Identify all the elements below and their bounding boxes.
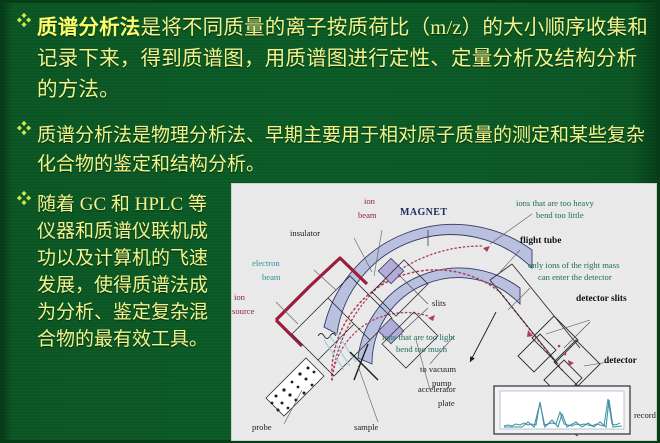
probe-assembly — [266, 358, 324, 416]
label-vacuum-pump-line2: pump — [432, 378, 452, 388]
label-too-light-line2: bend too much — [396, 344, 447, 354]
four-diamond-bullet-icon — [17, 121, 31, 135]
label-right-mass-line2: can enter the detector — [538, 272, 612, 282]
label-probe: probe — [252, 422, 272, 432]
label-flight-tube: flight tube — [520, 236, 561, 246]
vacuum-pump-arrow — [470, 312, 496, 362]
bullet-2-text: 质谱分析法是物理分析法、早期主要用于相对原子质量的测定和某些复杂化合物的鉴定和结… — [37, 121, 649, 179]
label-right-mass-line1: only ions of the right mass — [528, 260, 619, 270]
four-diamond-bullet-icon — [17, 191, 31, 205]
label-sample: sample — [354, 422, 378, 432]
label-vacuum-pump-line1: to vacuum — [420, 364, 456, 374]
label-electron-beam-line1: electron — [252, 258, 280, 268]
detector-slit-leaders — [546, 320, 608, 366]
bullet-1-text: 质谱分析法是将不同质量的离子按质荷比（m/z）的大小顺序收集和记录下来，得到质谱… — [37, 13, 649, 106]
bullet-item-1: 质谱分析法是将不同质量的离子按质荷比（m/z）的大小顺序收集和记录下来，得到质谱… — [17, 13, 649, 106]
bullet-1-highlight: 质谱分析法 — [37, 17, 141, 39]
label-detector-slits: detector slits — [576, 294, 627, 304]
label-insulator: insulator — [290, 228, 320, 238]
label-recorder: recorder — [634, 410, 657, 420]
label-ion-beam-line2: beam — [358, 210, 377, 220]
label-too-heavy-line2: bend too little — [536, 210, 584, 220]
label-too-heavy-line1: ions that are too heavy — [516, 198, 594, 208]
bullet-item-2: 质谱分析法是物理分析法、早期主要用于相对原子质量的测定和某些复杂化合物的鉴定和结… — [17, 121, 649, 179]
label-too-light-line1: ions that are too light — [382, 332, 455, 342]
ion-source-housing — [276, 258, 367, 346]
four-diamond-bullet-icon — [17, 13, 31, 27]
label-ion-source-line2: source — [232, 306, 254, 316]
label-ion-beam-line1: ion — [364, 196, 375, 206]
bullet-item-3: 随着 GC 和 HPLC 等仪器和质谱仪联机成功以及计算机的飞速发展，使得质谱法… — [17, 191, 223, 353]
label-accelerator-plate-line2: plate — [438, 398, 455, 408]
label-ion-source-line1: ion — [234, 292, 245, 302]
recorder-box — [494, 386, 630, 434]
mass-spectrometer-diagram: MAGNET ion beam insulator electron beam … — [231, 183, 657, 441]
bullet-3-text: 随着 GC 和 HPLC 等仪器和质谱仪联机成功以及计算机的飞速发展，使得质谱法… — [37, 191, 223, 353]
presentation-slide: 质谱分析法是将不同质量的离子按质荷比（m/z）的大小顺序收集和记录下来，得到质谱… — [0, 0, 660, 443]
label-detector: detector — [604, 356, 637, 366]
label-magnet: MAGNET — [400, 208, 447, 218]
label-slits: slits — [432, 298, 446, 308]
label-electron-beam-line2: beam — [262, 272, 281, 282]
